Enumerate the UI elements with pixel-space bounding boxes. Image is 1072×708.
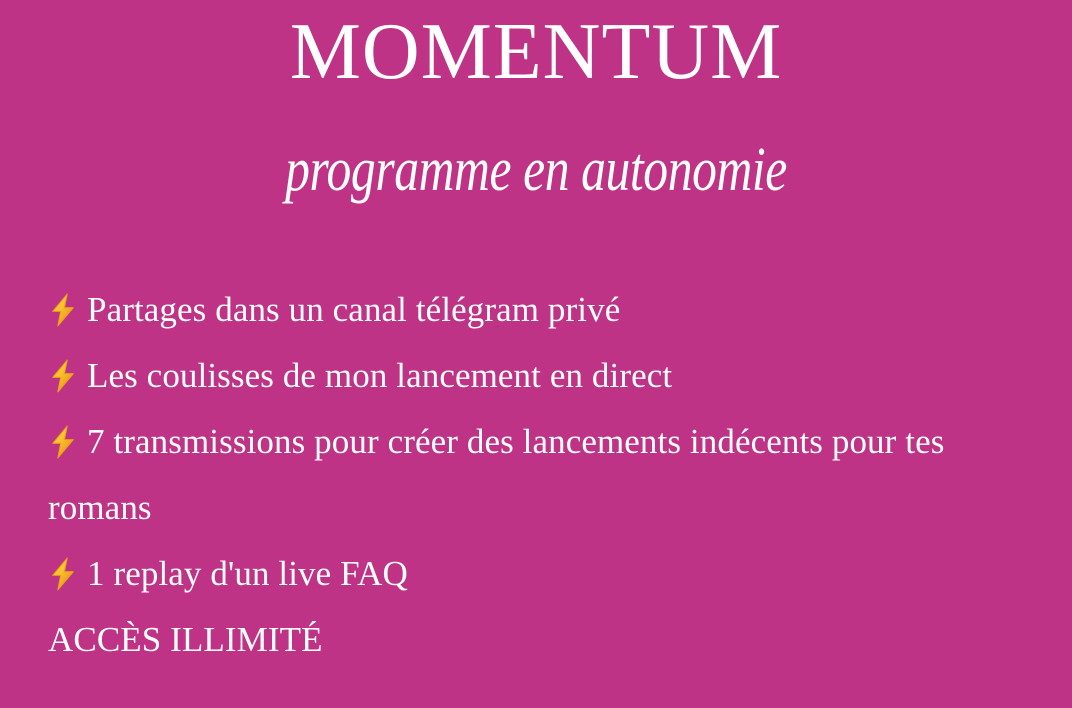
high-voltage-icon xyxy=(48,359,78,393)
list-item-label: Partages dans un canal télégram privé xyxy=(87,290,620,329)
list-item: 1 replay d'un live FAQ xyxy=(48,541,1038,607)
promo-slide: MOMENTUM programme en autonomie Partages… xyxy=(0,0,1072,708)
list-item: 7 transmissions pour créer des lancement… xyxy=(48,409,1038,541)
page-subtitle: programme en autonomie xyxy=(107,98,965,204)
high-voltage-icon xyxy=(48,293,78,327)
list-item: Les coulisses de mon lancement en direct xyxy=(48,343,1038,409)
list-item: Partages dans un canal télégram privé xyxy=(48,277,1038,343)
heading-block: MOMENTUM programme en autonomie xyxy=(0,0,1072,204)
list-item-label: ACCÈS ILLIMITÉ xyxy=(48,620,323,659)
page-title: MOMENTUM xyxy=(0,8,1072,98)
high-voltage-icon xyxy=(48,425,78,459)
list-item-label: 7 transmissions pour créer des lancement… xyxy=(48,422,944,527)
list-item-label: 1 replay d'un live FAQ xyxy=(87,554,408,593)
feature-list: Partages dans un canal télégram privéLes… xyxy=(48,277,1038,673)
list-item: ACCÈS ILLIMITÉ xyxy=(48,607,1038,673)
high-voltage-icon xyxy=(48,557,78,591)
list-item-label: Les coulisses de mon lancement en direct xyxy=(87,356,672,395)
